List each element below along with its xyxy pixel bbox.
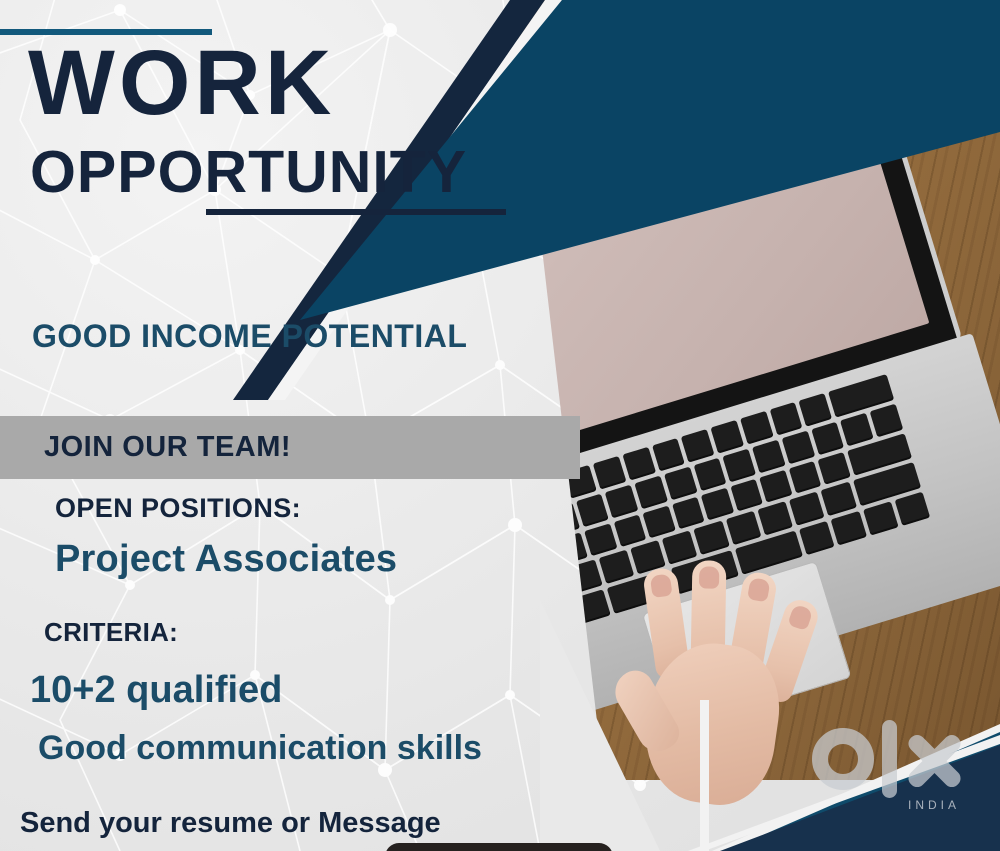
criteria-item-communication: Good communication skills [38,729,482,768]
criteria-label: CRITERIA: [44,617,178,648]
open-positions-label: OPEN POSITIONS: [55,493,301,524]
olx-l-icon [882,720,897,798]
olx-watermark: INDIA [812,718,982,828]
fingernail [747,577,771,602]
fingernail [699,566,719,588]
olx-x-icon [904,730,966,792]
headline-work: WORK [28,38,335,128]
criteria-item-qualification: 10+2 qualified [30,669,282,712]
position-name: Project Associates [55,538,397,581]
call-to-action-text: Send your resume or Message [20,807,441,840]
fingernail [650,573,673,598]
fingernail [787,604,813,631]
olx-region-label: INDIA [908,798,960,812]
join-team-label: JOIN OUR TEAM! [44,431,291,464]
olx-o-icon [812,728,874,790]
subtitle-income-potential: GOOD INCOME POTENTIAL [32,318,467,355]
work-opportunity-poster: INDIA WORK OPPORTUNITY GOOD INCOME POTEN… [0,0,1000,851]
headline-opportunity: OPPORTUNITY [30,143,467,202]
contact-pill-shape [385,843,613,851]
headline-underline [206,209,506,215]
